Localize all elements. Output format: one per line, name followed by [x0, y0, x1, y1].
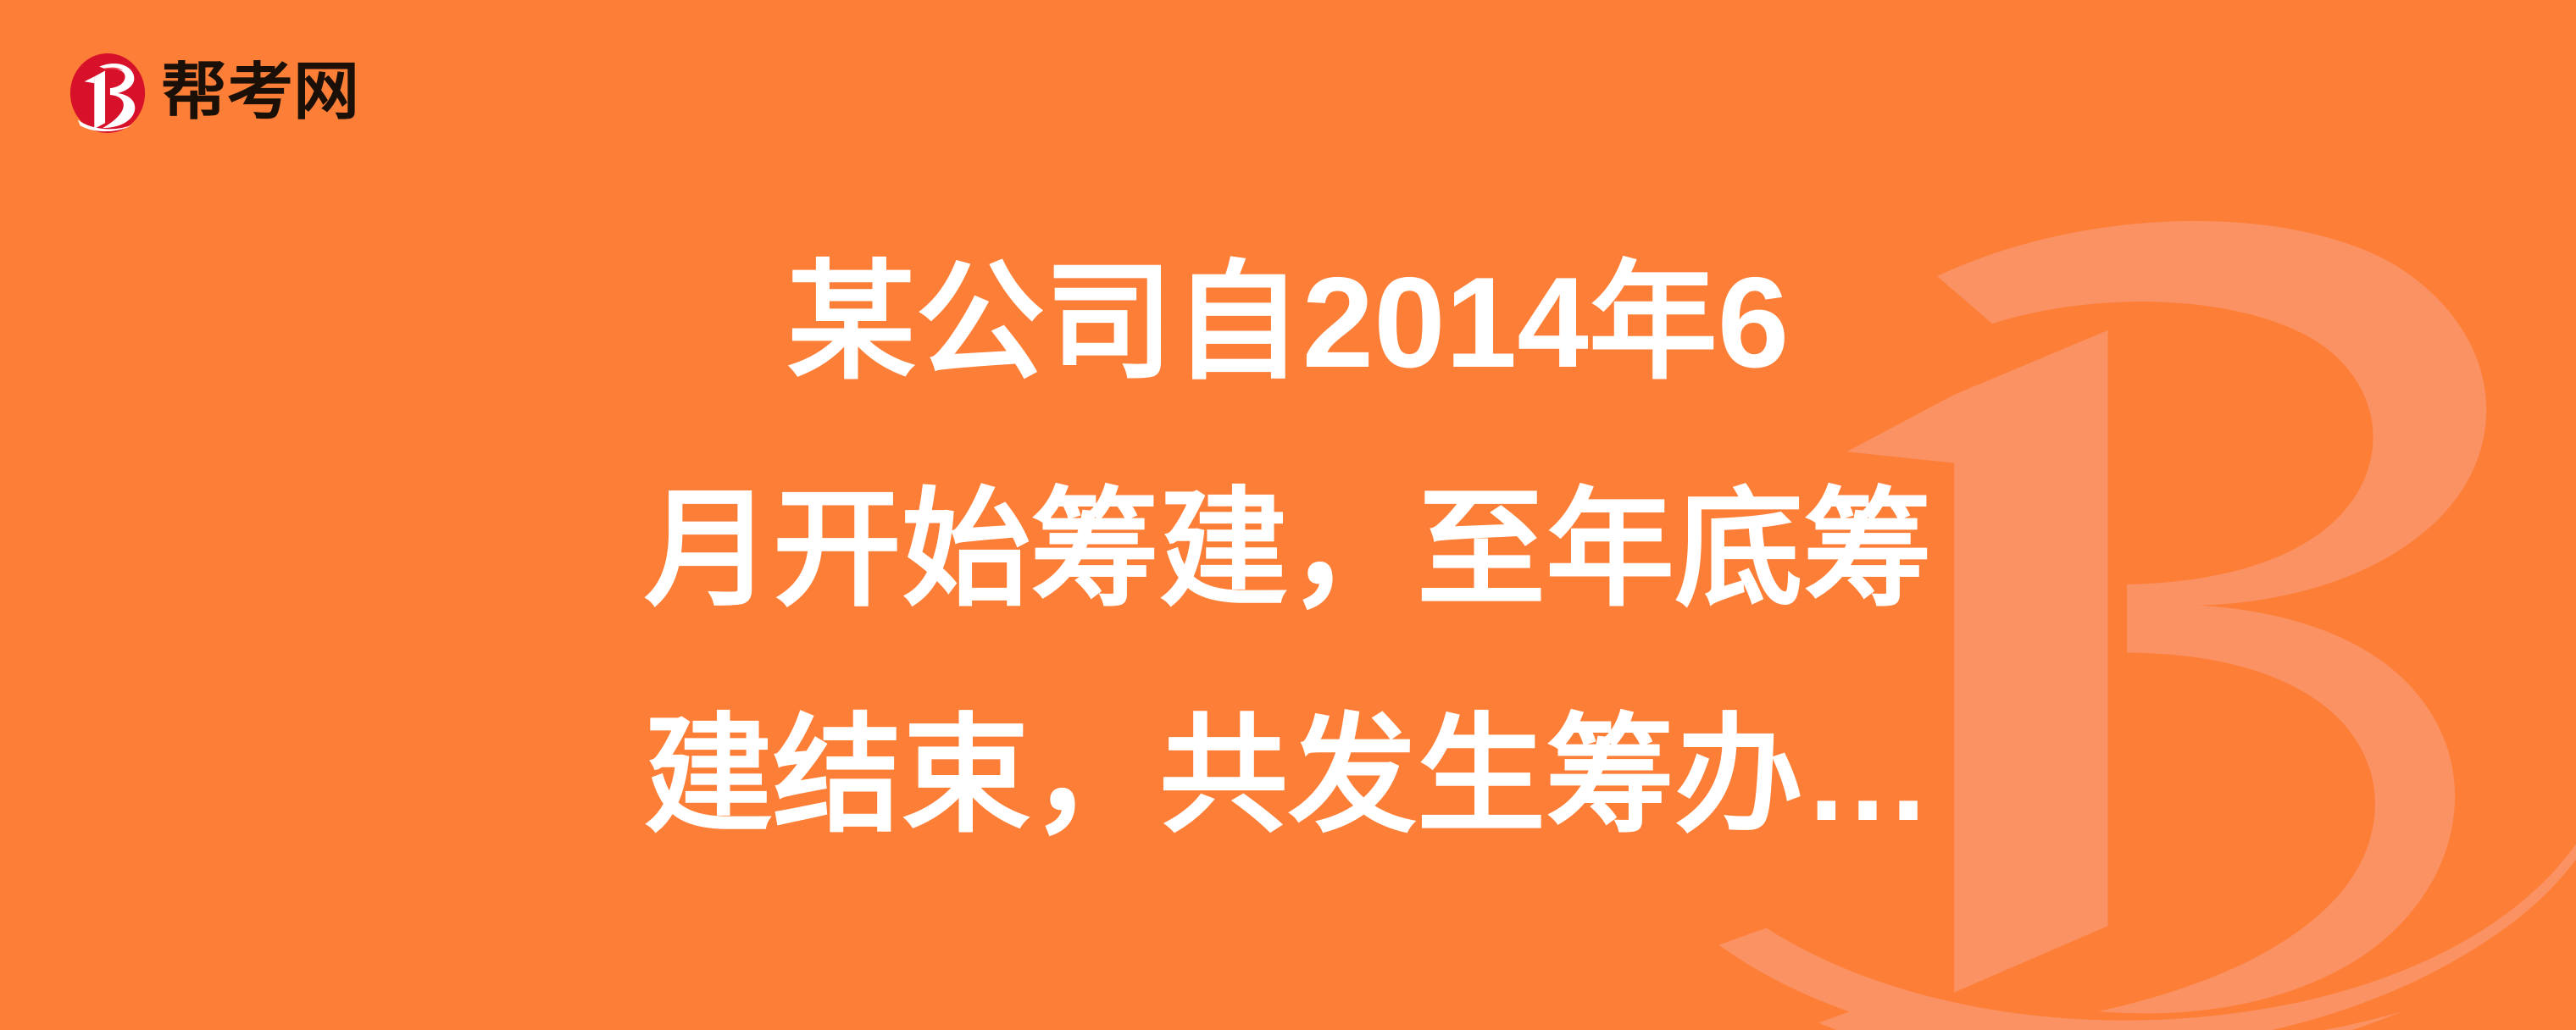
logo-b-badge-icon: B: [66, 52, 149, 135]
headline-text: 某公司自2014年6 月开始筹建，至年底筹 建结束，共发生筹办…: [0, 210, 2576, 890]
headline-line-1: 某公司自2014年6: [127, 210, 2449, 437]
logo-wordmark: 帮考网 帮考网: [161, 60, 359, 126]
headline-line-3: 建结束，共发生筹办…: [127, 663, 2449, 890]
brand-logo[interactable]: B 帮考网 帮考网: [66, 53, 359, 134]
svg-text:帮考网: 帮考网: [161, 60, 359, 126]
promo-card: B 帮考网 帮考网 某公司自2014年6 月开始筹建，至年底筹 建结束，共发生筹…: [0, 0, 2576, 1030]
headline-line-2: 月开始筹建，至年底筹: [127, 437, 2449, 664]
